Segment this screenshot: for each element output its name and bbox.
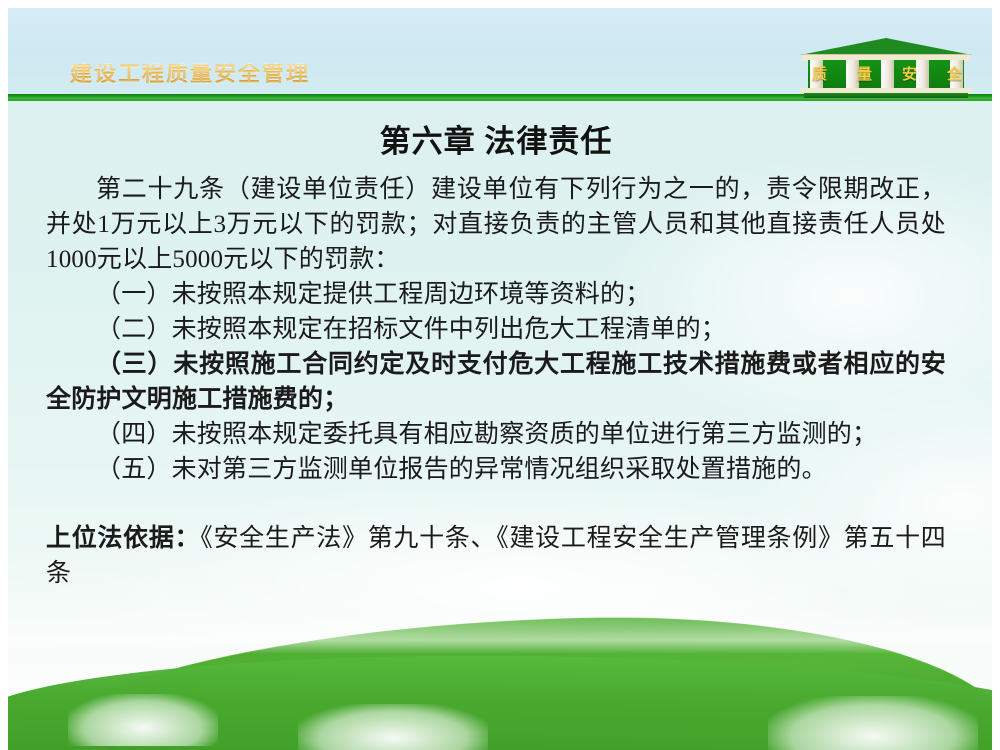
quality-safety-temple-logo: 质 量 安 全 [798, 38, 974, 98]
clause-item-2: （二）未按照本规定在招标文件中列出危大工程清单的； [46, 312, 946, 347]
legal-basis-paragraph: 上位法依据：《安全生产法》第九十条、《建设工程安全生产管理条例》第五十四条 [46, 521, 946, 591]
clause-item-5: （五）未对第三方监测单位报告的异常情况组织采取处置措施的。 [46, 452, 946, 487]
grass-cloud-left-icon [68, 694, 218, 746]
grass-cloud-center-icon [298, 704, 488, 750]
logo-char-4: 全 [947, 64, 962, 84]
logo-text: 质 量 安 全 [812, 64, 962, 84]
clause-item-4: （四）未按照本规定委托具有相应勘察资质的单位进行第三方监测的； [46, 417, 946, 452]
slide-content: 第六章 法律责任 第二十九条（建设单位责任）建设单位有下列行为之一的，责令限期改… [8, 108, 992, 591]
background-grass-field [8, 590, 992, 750]
clause-item-3: （三）未按照施工合同约定及时支付危大工程施工技术措施费或者相应的安全防护文明施工… [46, 347, 946, 417]
lead-paragraph: 第二十九条（建设单位责任）建设单位有下列行为之一的，责令限期改正，并处1万元以上… [46, 172, 946, 277]
slide: 建设工程质量安全管理 质 量 安 全 [0, 0, 1000, 750]
logo-char-3: 安 [902, 64, 917, 84]
logo-char-2: 量 [857, 64, 872, 84]
temple-pediment-icon [800, 38, 972, 55]
slide-header: 建设工程质量安全管理 质 量 安 全 [8, 8, 992, 100]
temple-plinth-icon [804, 93, 968, 98]
legal-basis-label: 上位法依据： [46, 525, 200, 552]
logo-char-1: 质 [812, 64, 827, 84]
header-title: 建设工程质量安全管理 [70, 64, 310, 86]
slide-canvas: 建设工程质量安全管理 质 量 安 全 [8, 8, 992, 750]
grass-cloud-right-icon [768, 696, 978, 750]
page-title: 第六章 法律责任 [46, 120, 946, 164]
grass-horizon-haze [8, 608, 992, 654]
clause-item-1: （一）未按照本规定提供工程周边环境等资料的； [46, 277, 946, 312]
